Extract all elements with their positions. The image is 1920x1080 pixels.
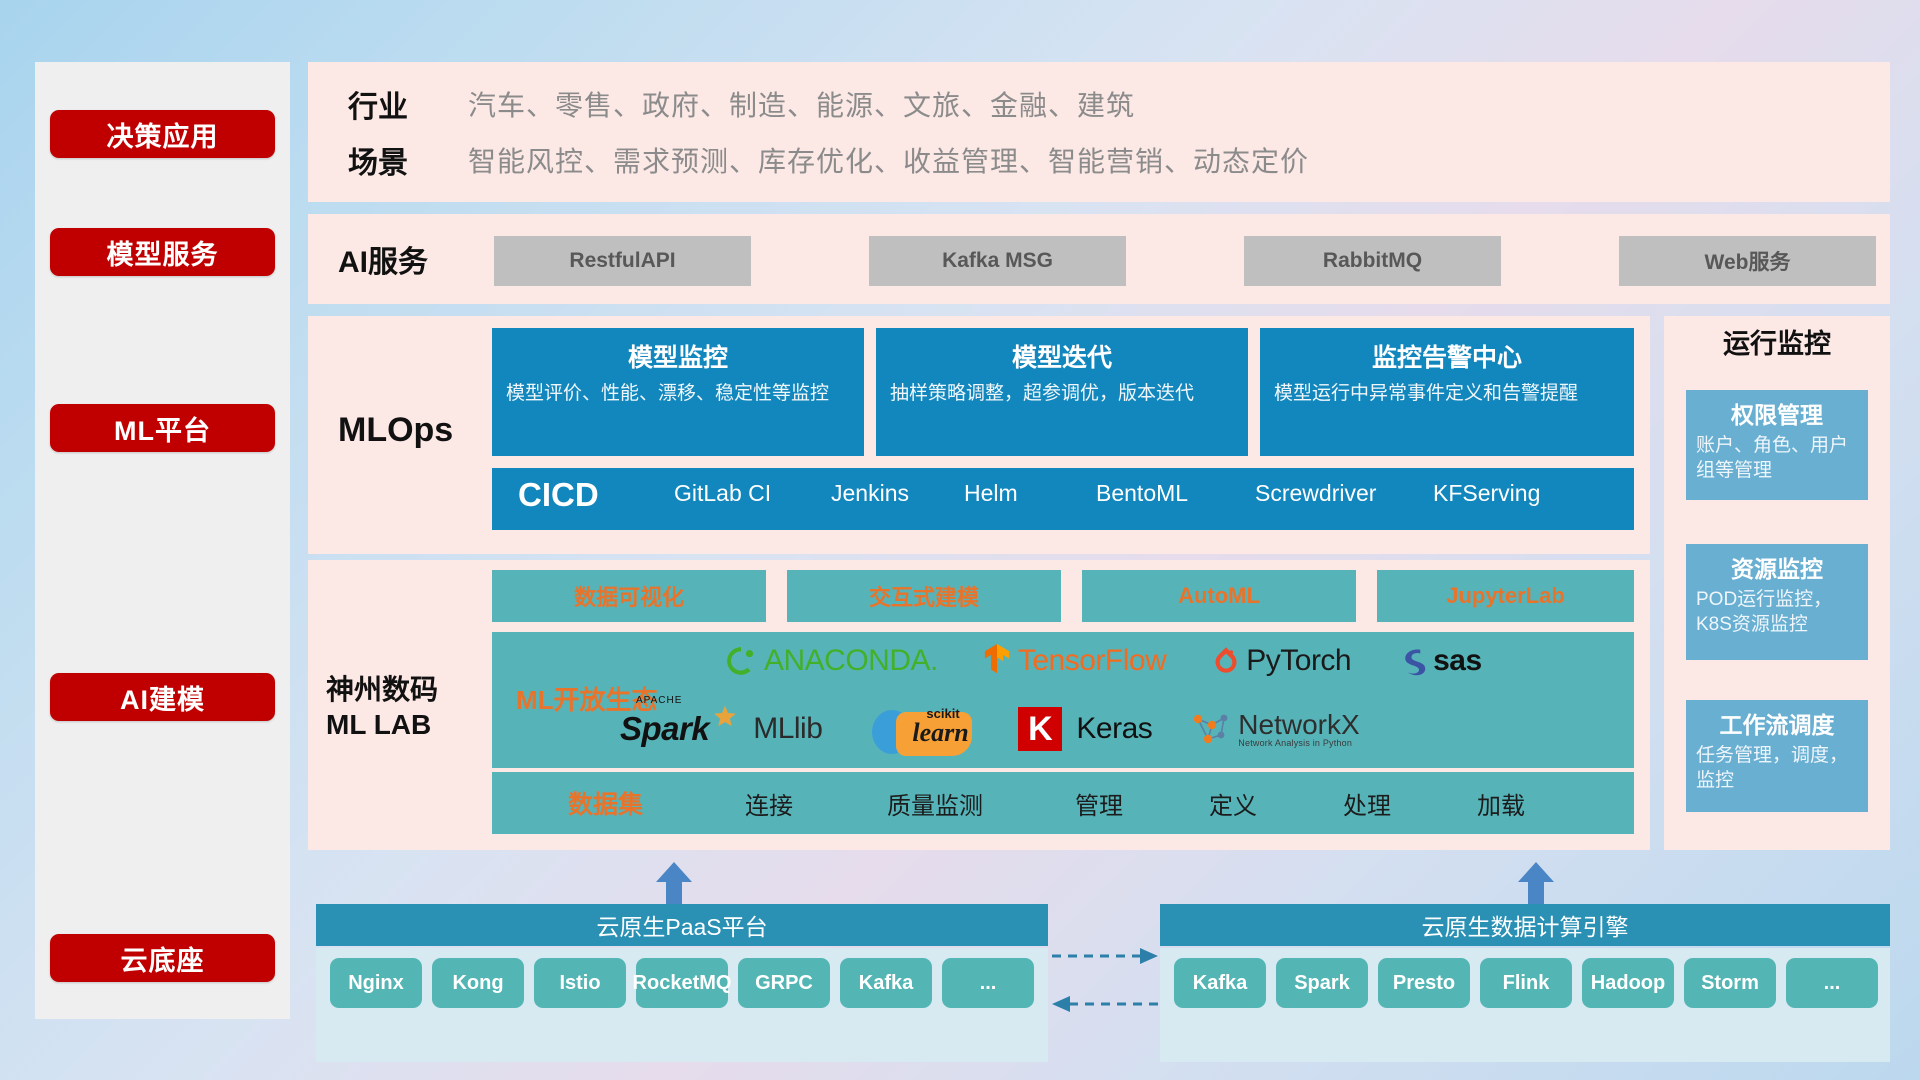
chip-label: Storm [1701,973,1759,994]
mlops-card-model-monitoring[interactable]: 模型监控 模型评价、性能、漂移、稳定性等监控 [492,328,864,456]
layer-rail [35,62,290,1019]
industry-label: 行业 [348,82,468,126]
ai-service-label: AI服务 [338,236,428,282]
spark-apache-text: APACHE [636,695,682,706]
cicd-item-helm[interactable]: Helm [964,480,1074,506]
tensorflow-logo: TensorFlow [982,644,1166,678]
paas-chip-kafka[interactable]: Kafka [840,958,932,1008]
rail-item-cloud-base[interactable]: 云底座 [50,934,275,982]
mlops-label: MLOps [338,400,453,460]
networkx-mark [1188,709,1232,749]
ml-lab-label-line1: 神州数码 [326,672,486,707]
engine-chip-spark[interactable]: Spark [1276,958,1368,1008]
cicd-item-gitlab-ci[interactable]: GitLab CI [674,480,784,506]
anaconda-mark [724,644,758,678]
chip-label: Spark [1294,973,1350,994]
data-engine-header: 云原生数据计算引擎 [1160,904,1890,946]
scikit-learn-logo: scikit learn [866,702,976,756]
sas-mark [1401,646,1427,676]
spark-text: Spark [620,710,709,747]
learn-text: learn [912,718,968,748]
paas-chip-nginx[interactable]: Nginx [330,958,422,1008]
chip-label: Web服务 [1705,246,1791,276]
chip-label: RocketMQ [633,973,732,994]
chip-label: Istio [559,973,600,994]
dataset-item-define[interactable]: 定义 [1209,786,1257,821]
cicd-row: CICD GitLab CI Jenkins Helm BentoML Scre… [492,468,1634,530]
sas-text: sas [1433,644,1482,678]
rail-item-ai-modeling[interactable]: AI建模 [50,673,275,721]
cicd-title: CICD [518,476,599,514]
engine-chip-hadoop[interactable]: Hadoop [1582,958,1674,1008]
data-engine-up-arrow-icon [1514,860,1558,904]
chip-label: RestfulAPI [569,249,675,273]
ai-service-rabbitmq[interactable]: RabbitMQ [1244,236,1501,286]
dataset-item-quality[interactable]: 质量监测 [887,786,983,821]
tab-label: 交互式建模 [869,580,979,612]
lab-tab-automl[interactable]: AutoML [1082,570,1356,622]
cicd-item-jenkins[interactable]: Jenkins [831,480,941,506]
tab-label: 数据可视化 [574,580,684,612]
card-title: 监控告警中心 [1274,338,1620,374]
mllib-text: MLlib [753,712,822,746]
dataset-head: 数据集 [568,785,643,821]
cicd-item-kfserving[interactable]: KFServing [1433,480,1543,506]
sas-logo: sas [1401,644,1482,678]
paas-chip-grpc[interactable]: GRPC [738,958,830,1008]
rail-label: 决策应用 [107,115,219,154]
dataset-item-connect[interactable]: 连接 [745,786,793,821]
engine-chip-kafka[interactable]: Kafka [1174,958,1266,1008]
dataset-item-manage[interactable]: 管理 [1075,786,1123,821]
ai-service-kafka-msg[interactable]: Kafka MSG [869,236,1126,286]
card-title: 模型监控 [506,338,850,374]
networkx-text: NetworkX [1238,711,1359,739]
pytorch-mark [1212,645,1240,677]
chip-label: Kong [452,973,503,994]
chip-label: ... [1824,973,1841,994]
chip-label: RabbitMQ [1323,249,1422,273]
ai-service-restfulapi[interactable]: RestfulAPI [494,236,751,286]
card-title: 资源监控 [1696,550,1858,584]
spark-mllib-logo: APACHE Spark MLlib [620,710,822,748]
keras-logo: K Keras [1018,707,1152,751]
monitor-card-permission[interactable]: 权限管理 账户、角色、用户组等管理 [1686,390,1868,500]
ai-service-web[interactable]: Web服务 [1619,236,1876,286]
paas-chip-rocketmq[interactable]: RocketMQ [636,958,728,1008]
lab-tab-data-visualization[interactable]: 数据可视化 [492,570,766,622]
keras-mark: K [1018,707,1062,751]
engine-chip-flink[interactable]: Flink [1480,958,1572,1008]
spark-star-icon [711,704,739,732]
tab-label: AutoML [1178,583,1260,609]
rail-label: AI建模 [120,678,205,717]
chip-label: Kafka MSG [942,249,1053,273]
chip-label: Hadoop [1591,973,1665,994]
paas-up-arrow-icon [652,860,696,904]
scenario-label: 场景 [348,138,468,182]
scenario-row: 场景 智能风控、需求预测、库存优化、收益管理、智能营销、动态定价 [348,138,1309,182]
rail-label: 模型服务 [107,233,219,272]
rail-item-ml-platform[interactable]: ML平台 [50,404,275,452]
anaconda-logo: ANACONDA. [724,644,938,678]
mlops-card-alert-center[interactable]: 监控告警中心 模型运行中异常事件定义和告警提醒 [1260,328,1634,456]
lab-tab-jupyterlab[interactable]: JupyterLab [1377,570,1634,622]
card-desc: 账户、角色、用户组等管理 [1696,434,1858,483]
runtime-monitor-title: 运行监控 [1664,322,1890,361]
rail-label: 云底座 [121,939,205,978]
networkx-subtext: Network Analysis in Python [1238,739,1359,748]
architecture-diagram: 决策应用 模型服务 ML平台 AI建模 云底座 行业 汽车、零售、政府、制造、能… [0,0,1920,1080]
chip-label: GRPC [755,973,813,994]
paas-chip-more[interactable]: ... [942,958,1034,1008]
card-title: 工作流调度 [1696,706,1858,740]
card-desc: 模型运行中异常事件定义和告警提醒 [1274,382,1620,406]
paas-chip-kong[interactable]: Kong [432,958,524,1008]
pytorch-logo: PyTorch [1212,644,1351,678]
ml-lab-label: 神州数码 ML LAB [326,672,486,742]
rail-item-decision-app[interactable]: 决策应用 [50,110,275,158]
chip-label: Kafka [859,973,913,994]
industry-values: 汽车、零售、政府、制造、能源、文旅、金融、建筑 [468,84,1135,124]
engine-chip-presto[interactable]: Presto [1378,958,1470,1008]
chip-label: Flink [1503,973,1550,994]
keras-text: Keras [1076,712,1152,746]
ml-open-ecosystem: ML开放生态 ANACONDA. TensorFlow [492,632,1634,768]
rail-label: ML平台 [114,409,211,448]
engine-chip-storm[interactable]: Storm [1684,958,1776,1008]
networkx-logo: NetworkX Network Analysis in Python [1188,709,1359,749]
card-title: 权限管理 [1696,396,1858,430]
card-desc: 抽样策略调整，超参调优，版本迭代 [890,382,1234,406]
cicd-item-bentoml[interactable]: BentoML [1096,480,1206,506]
chip-label: Nginx [348,973,404,994]
monitor-card-resource[interactable]: 资源监控 POD运行监控，K8S资源监控 [1686,544,1868,660]
monitor-card-workflow[interactable]: 工作流调度 任务管理，调度，监控 [1686,700,1868,812]
anaconda-text: ANACONDA. [764,644,938,678]
paas-chip-istio[interactable]: Istio [534,958,626,1008]
tab-label: JupyterLab [1446,583,1565,609]
mlops-card-model-iteration[interactable]: 模型迭代 抽样策略调整，超参调优，版本迭代 [876,328,1248,456]
ml-lab-label-line2: ML LAB [326,707,486,742]
dataset-item-process[interactable]: 处理 [1343,786,1391,821]
pytorch-text: PyTorch [1246,644,1351,678]
industry-row: 行业 汽车、零售、政府、制造、能源、文旅、金融、建筑 [348,82,1135,126]
tensorflow-mark [982,644,1012,678]
rail-item-model-service[interactable]: 模型服务 [50,228,275,276]
dataset-item-load[interactable]: 加载 [1477,786,1525,821]
chip-label: Presto [1393,973,1455,994]
tensorflow-text: TensorFlow [1018,644,1166,678]
card-desc: 任务管理，调度，监控 [1696,744,1858,793]
card-desc: POD运行监控，K8S资源监控 [1696,588,1858,637]
card-title: 模型迭代 [890,338,1234,374]
scenario-values: 智能风控、需求预测、库存优化、收益管理、智能营销、动态定价 [468,140,1309,180]
dataset-row: 数据集 连接 质量监测 管理 定义 处理 加载 [492,772,1634,834]
cicd-item-screwdriver[interactable]: Screwdriver [1255,480,1365,506]
chip-label: Kafka [1193,973,1247,994]
paas-header: 云原生PaaS平台 [316,904,1048,946]
lab-tab-interactive-modeling[interactable]: 交互式建模 [787,570,1061,622]
engine-chip-more[interactable]: ... [1786,958,1878,1008]
chip-label: ... [980,973,997,994]
card-desc: 模型评价、性能、漂移、稳定性等监控 [506,382,850,406]
bidirectional-link-arrows [1050,940,1160,1020]
